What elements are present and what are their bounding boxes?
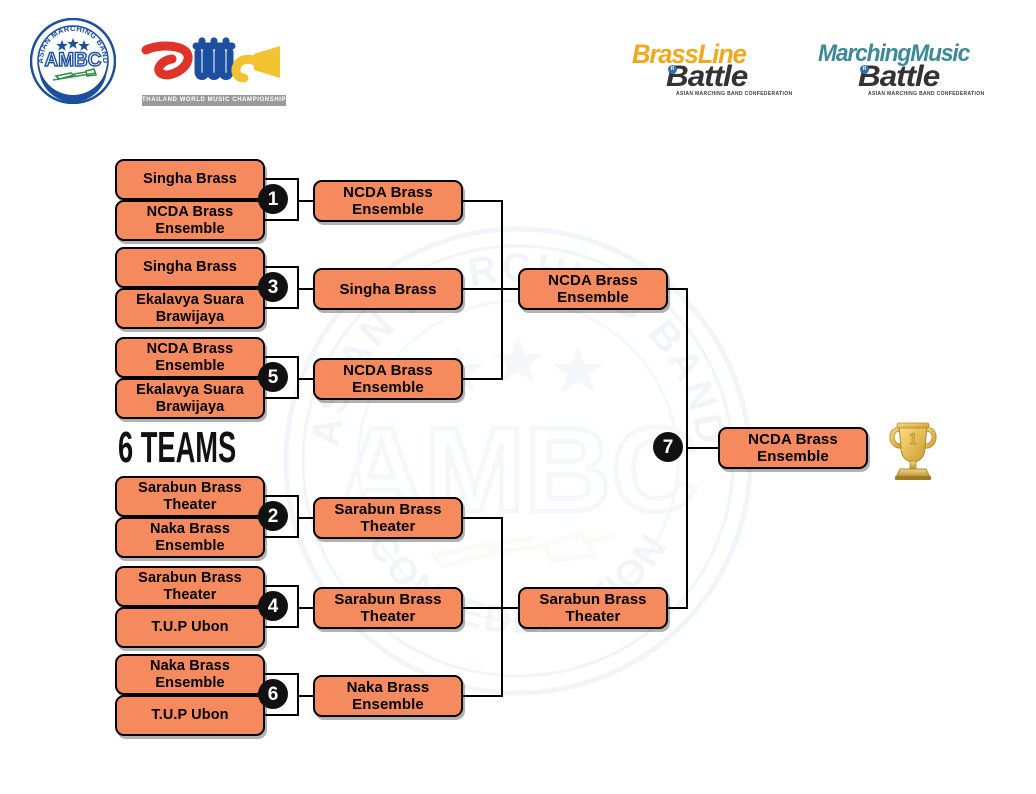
connector — [666, 607, 688, 609]
ambc-logo: ASIAN MARCHING BAND CONFEDERATION AMBC — [30, 18, 116, 104]
match-number-badge-final: 7 — [653, 432, 683, 462]
team-name: NCDA Brass Ensemble — [524, 272, 662, 306]
connector — [461, 517, 503, 519]
round1-slot[interactable]: Ekalavya Suara Brawijaya — [115, 378, 265, 419]
team-name: Naka Brass Ensemble — [121, 658, 259, 692]
round2-slot[interactable]: Sarabun Brass Theater — [313, 497, 463, 539]
match-number: 5 — [268, 368, 279, 387]
match-number: 2 — [268, 507, 279, 526]
connector — [666, 288, 688, 290]
round1-slot[interactable]: Singha Brass — [115, 159, 265, 200]
match-number-badge: 2 — [258, 501, 288, 531]
round1-slot[interactable]: Ekalavya Suara Brawijaya — [115, 288, 265, 329]
marchingmusic-battle-logo: MarchingMusic Battle R ASIAN MARCHING BA… — [818, 40, 988, 102]
team-name: NCDA Brass Ensemble — [319, 184, 457, 218]
round3-slot[interactable]: NCDA Brass Ensemble — [518, 268, 668, 310]
match-number-badge: 3 — [258, 272, 288, 302]
team-name: NCDA Brass Ensemble — [724, 431, 862, 465]
round1-slot[interactable]: NCDA Brass Ensemble — [115, 200, 265, 241]
connector — [501, 200, 503, 380]
connector — [461, 378, 503, 380]
match-number: 1 — [268, 190, 279, 209]
connector — [461, 607, 520, 609]
round2-slot[interactable]: Sarabun Brass Theater — [313, 587, 463, 629]
champion-slot[interactable]: NCDA Brass Ensemble — [718, 427, 868, 469]
team-name: Sarabun Brass Theater — [319, 501, 457, 535]
round2-slot[interactable]: Naka Brass Ensemble — [313, 675, 463, 717]
match-number-badge: 6 — [258, 679, 288, 709]
team-name: Sarabun Brass Theater — [524, 591, 662, 625]
team-name: NCDA Brass Ensemble — [319, 362, 457, 396]
connector — [461, 200, 503, 202]
round1-slot[interactable]: Sarabun Brass Theater — [115, 566, 265, 607]
round1-slot[interactable]: NCDA Brass Ensemble — [115, 337, 265, 378]
connector — [263, 536, 299, 538]
team-name: Singha Brass — [143, 259, 237, 276]
connector — [263, 714, 299, 716]
round1-slot[interactable]: T.U.P Ubon — [115, 607, 265, 648]
connector — [263, 673, 299, 675]
registered-mark-icon: R — [860, 65, 869, 74]
svg-text:AMBC: AMBC — [45, 50, 102, 71]
team-name: Ekalavya Suara Brawijaya — [121, 292, 259, 326]
connector — [686, 447, 720, 449]
round3-slot[interactable]: Sarabun Brass Theater — [518, 587, 668, 629]
round1-slot[interactable]: Naka Brass Ensemble — [115, 517, 265, 558]
match-number-badge: 1 — [258, 184, 288, 214]
trophy-place-label: 1 — [909, 429, 918, 448]
connector — [263, 356, 299, 358]
connector — [263, 307, 299, 309]
team-name: Ekalavya Suara Brawijaya — [121, 382, 259, 416]
connector — [461, 288, 520, 290]
match-number-badge: 4 — [258, 591, 288, 621]
connector — [263, 585, 299, 587]
match-number: 7 — [663, 438, 674, 457]
connector — [263, 397, 299, 399]
marchingmusic-line2: Battle — [858, 62, 939, 92]
team-name: Singha Brass — [143, 171, 237, 188]
connector — [263, 266, 299, 268]
round1-slot[interactable]: Naka Brass Ensemble — [115, 654, 265, 695]
connector — [263, 495, 299, 497]
brassline-battle-logo: BrassLine Battle R ASIAN MARCHING BAND C… — [632, 40, 790, 102]
connector — [461, 695, 503, 697]
team-name: NCDA Brass Ensemble — [121, 341, 259, 375]
round1-slot[interactable]: Singha Brass — [115, 247, 265, 288]
match-number: 3 — [268, 278, 279, 297]
trophy-icon: 1 — [884, 418, 942, 482]
round2-slot[interactable]: NCDA Brass Ensemble — [313, 180, 463, 222]
team-name: Naka Brass Ensemble — [319, 679, 457, 713]
twmc-logo: THAILAND WORLD MUSIC CHAMPIONSHIPS — [140, 28, 288, 106]
connector — [263, 178, 299, 180]
teams-count-label: 6 TEAMS — [118, 426, 236, 470]
match-number: 4 — [268, 597, 279, 616]
team-name: Sarabun Brass Theater — [121, 480, 259, 514]
connector — [263, 626, 299, 628]
marchingmusic-sub: ASIAN MARCHING BAND CONFEDERATION — [868, 91, 984, 97]
team-name: Sarabun Brass Theater — [121, 570, 259, 604]
team-name: Singha Brass — [339, 281, 436, 298]
round1-slot[interactable]: Sarabun Brass Theater — [115, 476, 265, 517]
brassline-sub: ASIAN MARCHING BAND CONFEDERATION — [676, 91, 792, 97]
twmc-caption: THAILAND WORLD MUSIC CHAMPIONSHIPS — [142, 95, 286, 106]
round2-slot[interactable]: NCDA Brass Ensemble — [313, 358, 463, 400]
brassline-line2: Battle — [666, 62, 747, 92]
registered-mark-icon: R — [668, 65, 677, 74]
round2-slot[interactable]: Singha Brass — [313, 268, 463, 310]
bracket-page: ASIAN MARCHING BAND CONFEDERATION AMBC — [0, 0, 1036, 794]
match-number-badge: 5 — [258, 362, 288, 392]
team-name: NCDA Brass Ensemble — [121, 204, 259, 238]
team-name: Sarabun Brass Theater — [319, 591, 457, 625]
connector — [263, 219, 299, 221]
team-name: T.U.P Ubon — [151, 707, 228, 724]
team-name: T.U.P Ubon — [151, 619, 228, 636]
round1-slot[interactable]: T.U.P Ubon — [115, 695, 265, 736]
team-name: Naka Brass Ensemble — [121, 521, 259, 555]
match-number: 6 — [268, 685, 279, 704]
